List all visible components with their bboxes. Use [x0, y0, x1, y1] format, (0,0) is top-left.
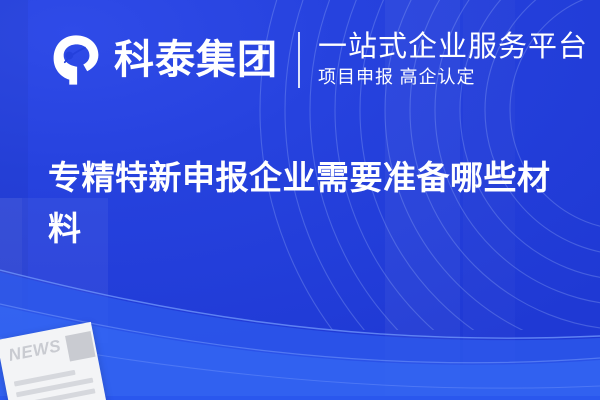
page-title: 专精特新申报企业需要准备哪些材料	[48, 152, 553, 254]
news-card-title: NEWS	[7, 337, 62, 364]
background-left-panel-edge	[0, 198, 22, 343]
banner-header: 科泰集团 一站式企业服务平台 项目申报 高企认定	[0, 0, 600, 120]
banner-root: 科泰集团 一站式企业服务平台 项目申报 高企认定 专精特新申报企业需要准备哪些材…	[0, 0, 600, 400]
ketai-circle-logo-icon	[48, 32, 104, 88]
tagline-main: 一站式企业服务平台	[318, 31, 588, 63]
news-thumbnail-placeholder	[65, 331, 95, 361]
tagline-block: 一站式企业服务平台 项目申报 高企认定	[318, 31, 588, 90]
news-card-lines	[14, 367, 100, 400]
tagline-sub: 项目申报 高企认定	[318, 66, 588, 89]
header-divider	[298, 32, 300, 88]
news-card-header: NEWS	[7, 332, 89, 372]
brand-name: 科泰集团	[114, 40, 278, 80]
